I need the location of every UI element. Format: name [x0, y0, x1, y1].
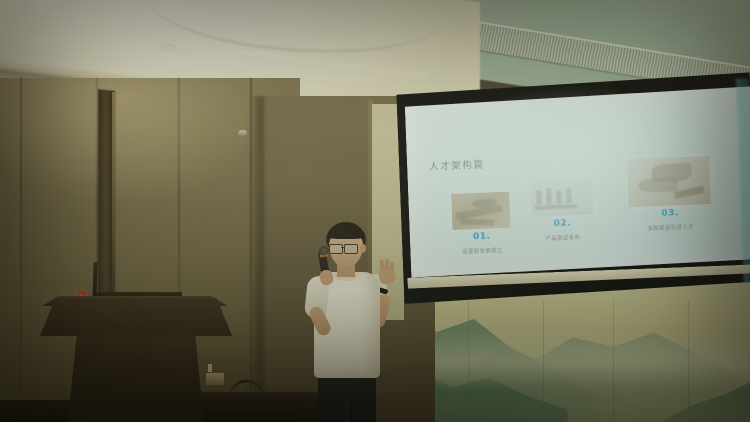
mountain-mural: [398, 300, 750, 422]
wall-corner-shadow: [248, 96, 264, 422]
slide-title: 人才架构篇: [429, 157, 485, 173]
slide-item-caption: 多种渠道引进人才: [618, 222, 724, 234]
presentation-room-photo: 人才架构篇 01. 设置研发部成立: [0, 0, 750, 422]
slide-item-02: 02. 产品测试发布: [518, 178, 606, 243]
mural-panel-seam: [468, 300, 469, 422]
slide-item-number: 02.: [519, 217, 605, 230]
mural-mist: [398, 330, 750, 390]
ceiling-downlight: [162, 44, 176, 51]
glasses-lens-right: [344, 244, 358, 254]
lectern: [62, 334, 210, 422]
smoke-detector-icon: [238, 130, 247, 136]
presentation-slide: 人才架构篇 01. 设置研发部成立: [405, 86, 750, 277]
slide-item-caption: 设置研发部成立: [444, 245, 520, 256]
slide-item-photo: [530, 179, 593, 217]
mural-panel-seam: [543, 300, 544, 422]
slide-item-number: 01.: [444, 230, 520, 243]
slide-item-photo: [451, 192, 510, 230]
slide-item-photo: [627, 156, 711, 207]
mural-panel-seam: [688, 300, 689, 422]
podium-top: [40, 298, 232, 336]
ear: [360, 244, 366, 253]
slide-item-03: 03. 多种渠道引进人才: [615, 156, 724, 234]
presenter: [290, 222, 410, 422]
leg-separation: [345, 398, 349, 422]
finger: [379, 260, 384, 270]
projection-screen: 人才架构篇 01. 设置研发部成立: [396, 72, 750, 303]
glasses-lens-left: [329, 244, 343, 254]
mural-panel-seam: [613, 300, 614, 422]
glasses-bridge: [341, 247, 345, 248]
wall-socket-plate: [205, 372, 225, 386]
slide-item-caption: 产品测试发布: [520, 232, 606, 243]
slide-item-01: 01. 设置研发部成立: [442, 191, 520, 256]
slide-item-number: 03.: [617, 207, 723, 221]
